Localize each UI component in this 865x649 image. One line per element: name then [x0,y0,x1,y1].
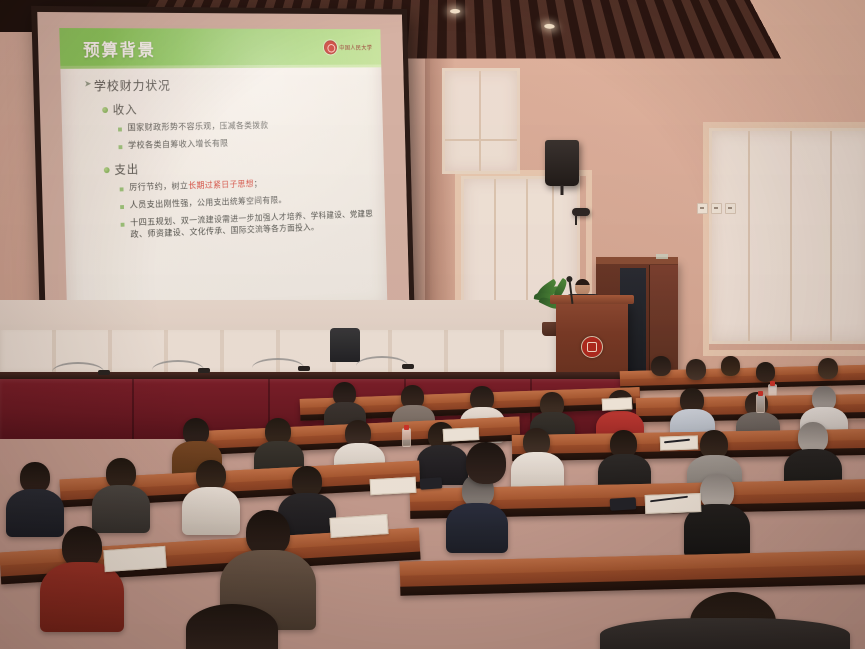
audience-torso-foreground [600,618,850,649]
slide-bullet-text: 十四五规划、双一流建设需进一步加强人才培养、学科建设、党建思政、师资建设、文化传… [130,209,374,242]
audience-head [686,359,706,380]
panel-mullion [479,71,481,171]
audience-torso [6,489,64,537]
slide-bullet-l3: 国家财政形势不容乐观，压减各类拨款 [118,119,371,137]
notebook [645,493,702,514]
dot-bullet-icon [102,101,113,119]
audience-head [756,362,775,382]
mobile-phone [610,497,637,510]
audience-head-foreground [186,604,278,649]
slide-body: ➤ 学校财力状况 收入 国家财政形势不容乐观，压减各类拨款 学校各类自筹收入增长… [60,70,385,249]
square-bullet-icon [120,218,130,232]
ceiling-light [544,24,555,29]
audience-head [651,356,671,376]
slide-title: 预算背景 [83,36,156,61]
notebook [370,477,417,495]
power-outlet [725,203,736,214]
slide-bullet-tail: ； [254,179,262,189]
lecture-hall-scene: 预算背景 中国人民大学 ➤ 学校财力状况 收入 [0,0,865,649]
audience-torso [446,503,508,553]
slide-bullet-l2: 收入 [102,98,371,119]
water-bottle [402,428,411,447]
panel-mullion-h [445,139,517,141]
water-bottle [756,394,765,413]
slide-bullet-highlight: 长期过紧日子思想 [188,180,254,192]
notebook [443,427,480,442]
microphone-base [402,364,414,369]
exit-sign [656,254,668,259]
acoustic-panel-right [709,128,865,344]
podium [556,302,628,378]
stage-chair [330,328,360,362]
square-bullet-icon [118,122,128,136]
slide-bullet-text: 学校财力状况 [94,75,171,94]
notebook [329,514,388,538]
slide-bullet-text: 国家财政形势不容乐观，压减各类拨款 [127,120,268,134]
desk-edge [400,575,865,595]
microphone-base [98,370,110,375]
panel-mullion [748,131,750,341]
university-logo-text: 中国人民大学 [339,43,372,51]
university-emblem-icon [323,40,336,54]
audience-head [721,356,740,376]
slide-bullet-text: 收入 [113,101,138,118]
mobile-phone [420,477,443,490]
power-outlet [697,203,708,214]
audience-torso [40,562,124,632]
slide-bullet-l1: ➤ 学校财力状况 [84,74,370,95]
slide-bullet-text: 支出 [114,160,139,177]
panel-seam [132,379,134,439]
dot-bullet-icon [104,161,115,179]
wall-speaker [545,140,579,186]
slide-bullet-l3: 十四五规划、双一流建设需进一步加强人才培养、学科建设、党建思政、师资建设、文化传… [120,209,373,243]
presentation-slide: 预算背景 中国人民大学 ➤ 学校财力状况 收入 [59,28,387,326]
desk-row [400,550,865,595]
audience-head [818,358,838,379]
square-bullet-icon [118,140,128,154]
slide-bullet-text: 学校各类自筹收入增长有限 [128,138,229,152]
slide-bullet-text: 厉行节约，树立 [129,182,188,194]
arrow-bullet-icon: ➤ [84,76,94,92]
panel-mullion [830,131,832,341]
podium-top [550,295,634,304]
audience-head [466,442,506,484]
audience-torso [182,487,240,535]
university-logo: 中国人民大学 [323,40,372,54]
acoustic-panel-far-left [442,68,520,174]
podium-university-emblem-icon [581,336,603,358]
audience-torso [92,485,150,533]
panel-mullion [790,131,792,341]
slide-bullet-text-group: 厉行节约，树立长期过紧日子思想； [129,178,262,194]
square-bullet-icon [120,200,130,214]
microphone-base [198,368,210,373]
ceiling-light [450,9,460,14]
notebook [103,546,166,572]
wall-camera-icon [572,208,590,216]
slide-bullet-text: 人员支出刚性强，公用支出统筹空间有限。 [130,195,287,212]
notebook [602,397,633,411]
microphone-base [298,366,310,371]
door-header [596,257,678,264]
power-outlet [711,203,722,214]
desk-surface [400,550,865,576]
square-bullet-icon [120,182,130,196]
slide-bullet-l3: 学校各类自筹收入增长有限 [118,135,371,154]
